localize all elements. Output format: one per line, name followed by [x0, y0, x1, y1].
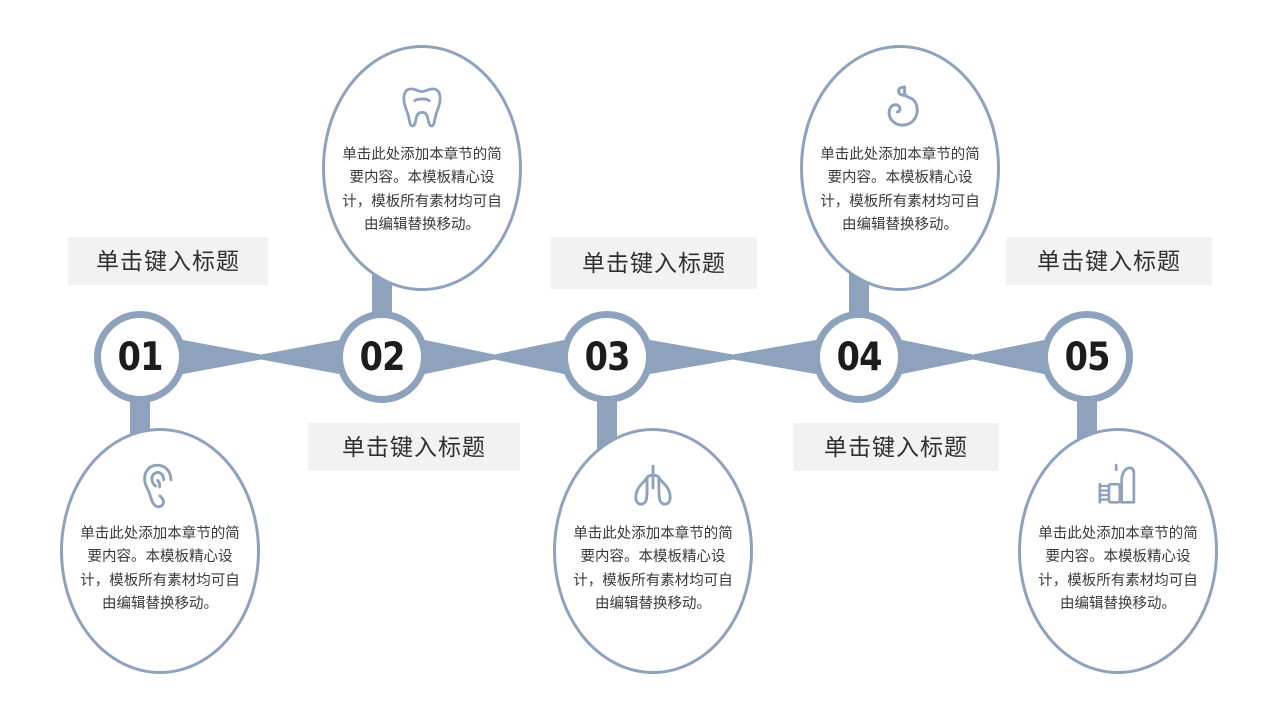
- node-number: 04: [837, 338, 882, 377]
- link-connector: [650, 340, 816, 374]
- node-circle-02[interactable]: 02: [336, 311, 428, 403]
- bubble-body-text: 单击此处添加本章节的简要内容。本模板精心设计，模板所有素材均可自由编辑替换移动。: [1034, 523, 1202, 617]
- node-circle-03[interactable]: 03: [561, 311, 653, 403]
- bubble-body-text: 单击此处添加本章节的简要内容。本模板精心设计，模板所有素材均可自由编辑替换移动。: [76, 523, 244, 617]
- content-bubble-01[interactable]: 单击此处添加本章节的简要内容。本模板精心设计，模板所有素材均可自由编辑替换移动。: [60, 428, 260, 674]
- title-chip-03[interactable]: 单击键入标题: [551, 237, 757, 289]
- node-circle-04[interactable]: 04: [813, 311, 905, 403]
- bubble-body-text: 单击此处添加本章节的简要内容。本模板精心设计，模板所有素材均可自由编辑替换移动。: [338, 144, 506, 238]
- content-bubble-05[interactable]: 单击此处添加本章节的简要内容。本模板精心设计，模板所有素材均可自由编辑替换移动。: [1018, 428, 1218, 674]
- lungs-icon: [624, 457, 682, 515]
- node-number: 02: [360, 338, 405, 377]
- title-chip-04[interactable]: 单击键入标题: [793, 423, 999, 471]
- tooth-icon: [393, 78, 451, 136]
- node-number: 03: [585, 338, 630, 377]
- link-connector: [183, 340, 339, 374]
- content-bubble-04[interactable]: 单击此处添加本章节的简要内容。本模板精心设计，模板所有素材均可自由编辑替换移动。: [800, 45, 1000, 291]
- node-number: 01: [118, 338, 163, 377]
- bubble-body-text: 单击此处添加本章节的简要内容。本模板精心设计，模板所有素材均可自由编辑替换移动。: [816, 144, 984, 238]
- infographic-canvas: 单击键入标题 单击键入标题 单击键入标题 单击键入标题 单击键入标题 单击此处添…: [0, 0, 1280, 720]
- ear-icon: [131, 457, 189, 515]
- stomach-icon: [871, 78, 929, 136]
- node-circle-05[interactable]: 05: [1041, 311, 1133, 403]
- content-bubble-03[interactable]: 单击此处添加本章节的简要内容。本模板精心设计，模板所有素材均可自由编辑替换移动。: [553, 428, 753, 674]
- node-number: 05: [1065, 338, 1110, 377]
- title-chip-01[interactable]: 单击键入标题: [68, 237, 268, 285]
- content-bubble-02[interactable]: 单击此处添加本章节的简要内容。本模板精心设计，模板所有素材均可自由编辑替换移动。: [322, 45, 522, 291]
- node-circle-01[interactable]: 01: [94, 311, 186, 403]
- link-connector: [902, 340, 1044, 374]
- link-connector: [425, 340, 564, 374]
- title-chip-02[interactable]: 单击键入标题: [308, 423, 520, 471]
- title-label: 单击键入标题: [582, 252, 726, 275]
- title-label: 单击键入标题: [824, 436, 968, 459]
- title-chip-05[interactable]: 单击键入标题: [1006, 237, 1212, 285]
- title-label: 单击键入标题: [1037, 250, 1181, 273]
- title-label: 单击键入标题: [96, 250, 240, 273]
- thumbs-up-icon: [1089, 457, 1147, 515]
- title-label: 单击键入标题: [342, 436, 486, 459]
- bubble-body-text: 单击此处添加本章节的简要内容。本模板精心设计，模板所有素材均可自由编辑替换移动。: [569, 523, 737, 617]
